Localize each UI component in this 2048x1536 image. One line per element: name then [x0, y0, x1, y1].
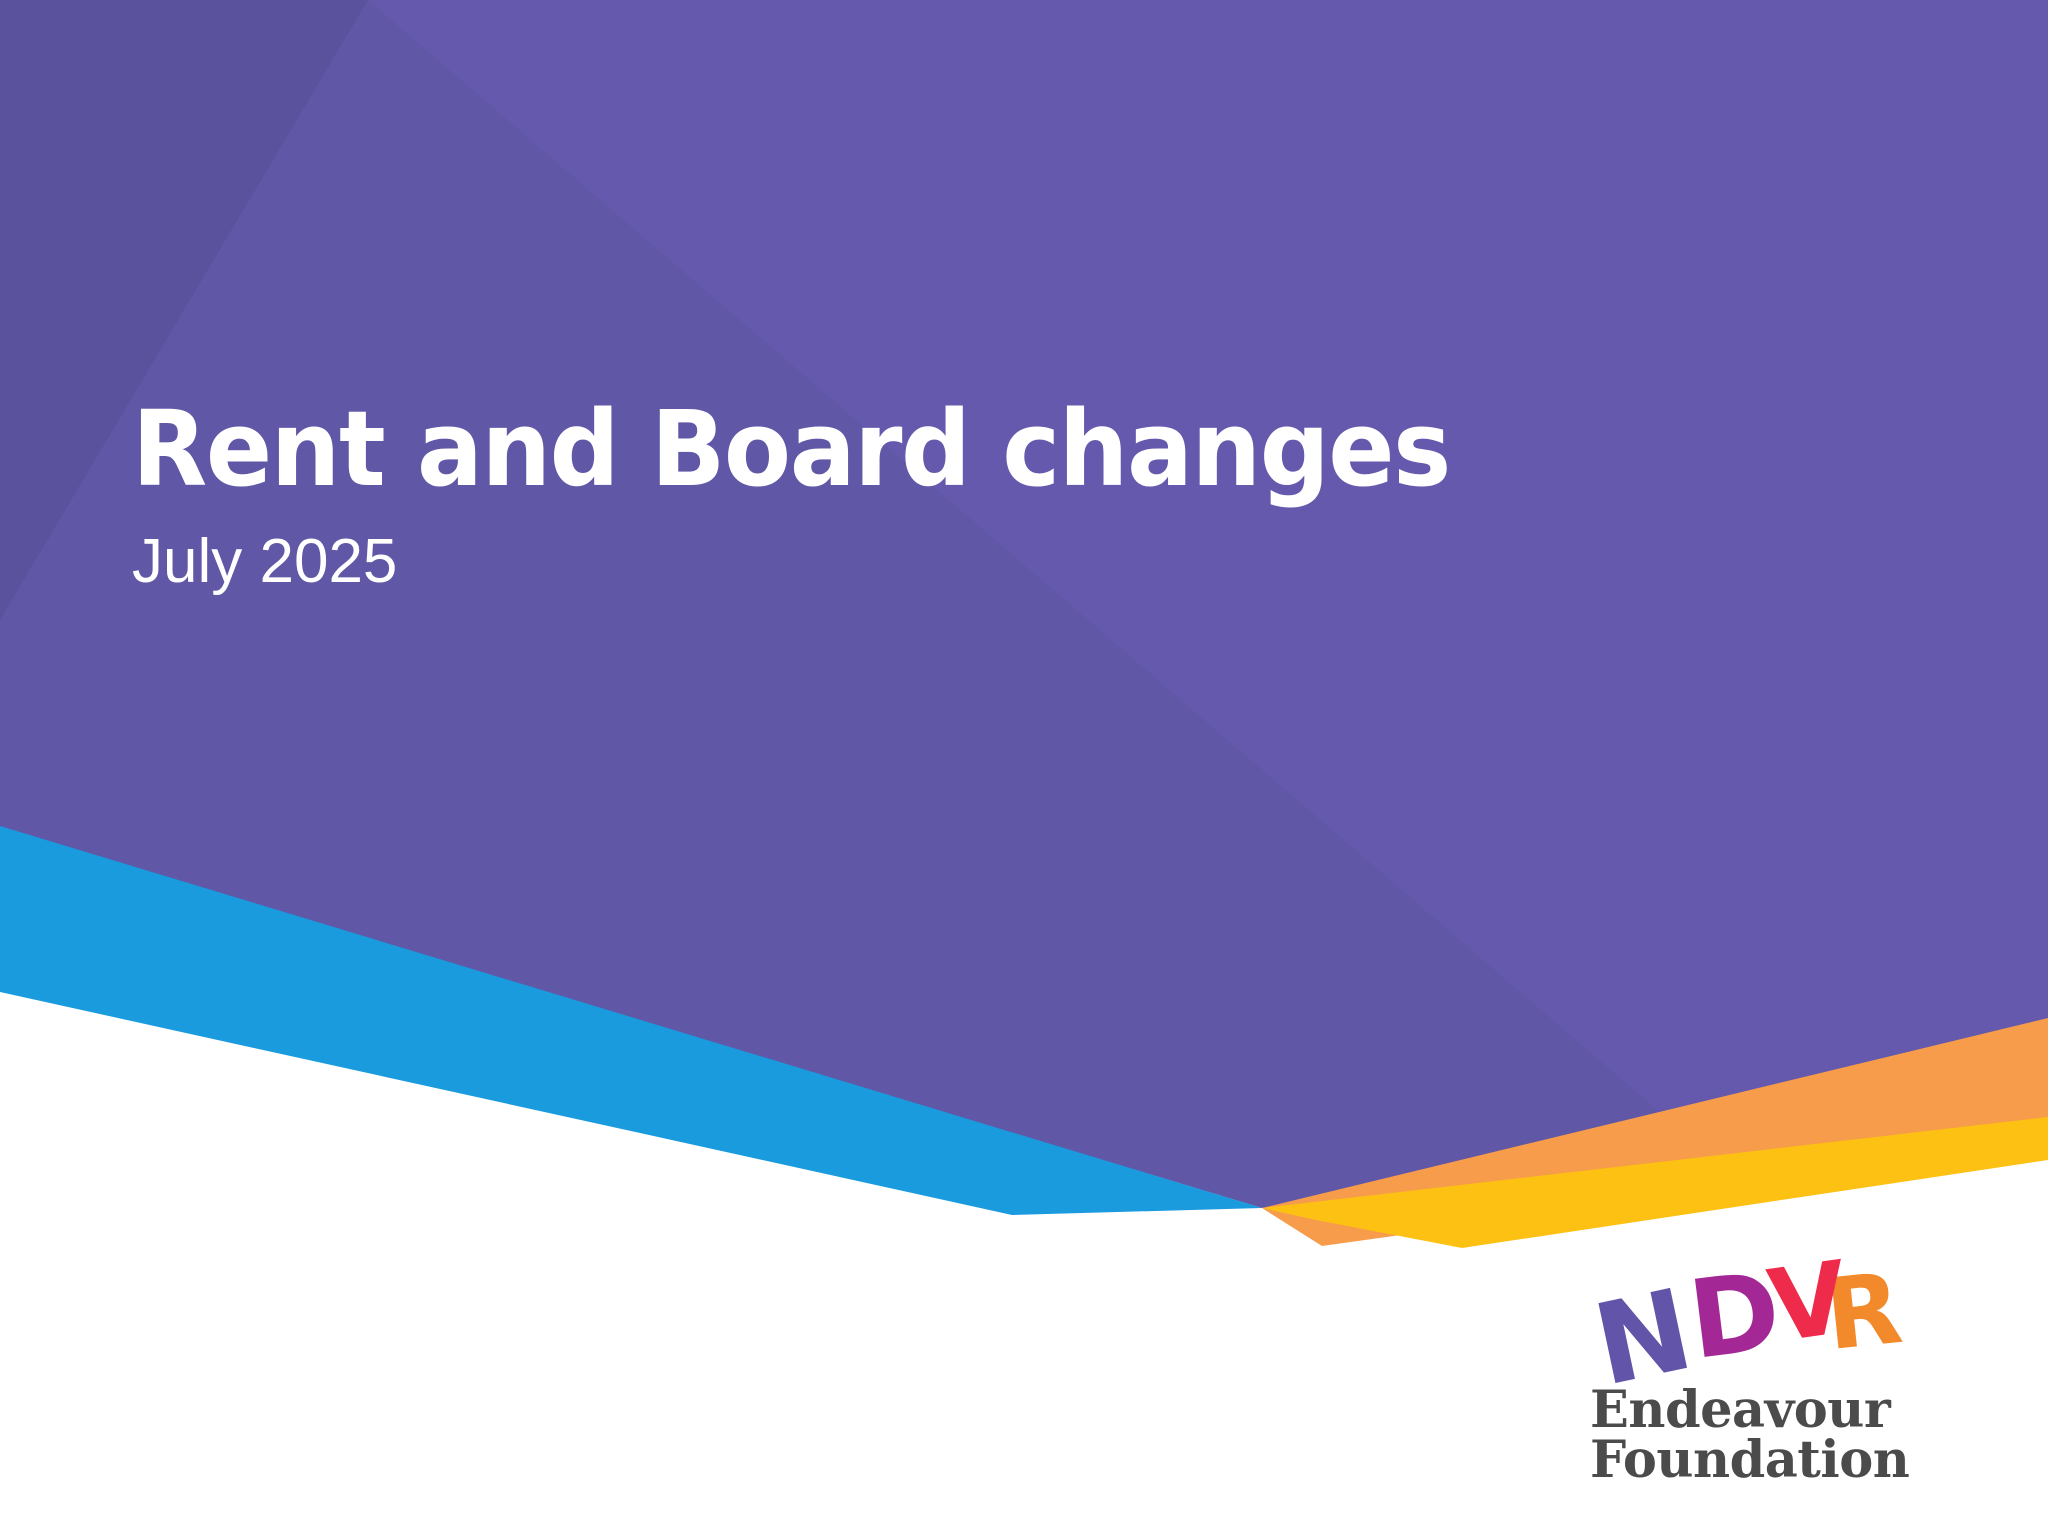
- slide-subtitle: July 2025: [132, 528, 1632, 596]
- ndvr-letter-d: D: [1683, 1249, 1787, 1384]
- logo-wordmark-line-2: Foundation: [1590, 1436, 1928, 1486]
- page-title: Rent and Board changes: [132, 396, 1542, 502]
- svg-text:D: D: [1683, 1249, 1787, 1384]
- title-block: Rent and Board changes July 2025: [132, 396, 1632, 596]
- title-slide: Rent and Board changes July 2025 R V D N…: [0, 0, 2048, 1536]
- logo-wordmark-line-1: Endeavour: [1590, 1386, 1928, 1436]
- ndvr-logo-mark-icon: R V D N: [1588, 1248, 1928, 1388]
- logo-wordmark: Endeavour Foundation: [1590, 1386, 1928, 1516]
- endeavour-foundation-logo: R V D N Endeavour Foundation: [1588, 1248, 1928, 1520]
